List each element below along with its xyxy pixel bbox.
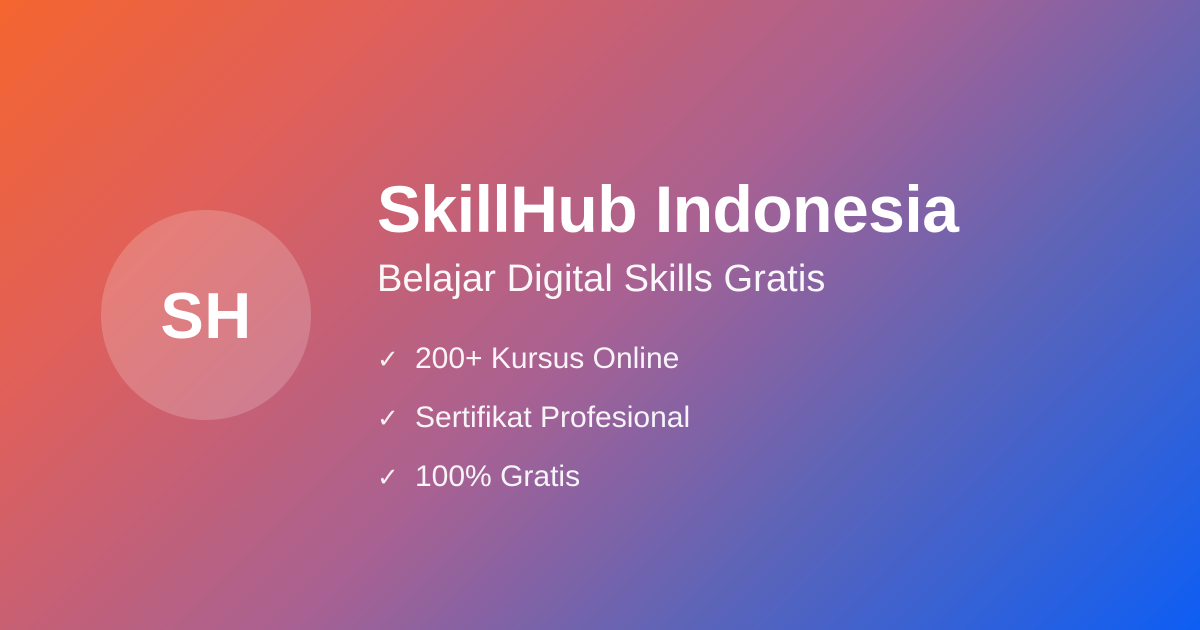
avatar: SH: [101, 210, 311, 420]
list-item: ✓ 100% Gratis: [377, 462, 1137, 521]
page-title: SkillHub Indonesia: [377, 176, 1137, 242]
brand-tagline: Belajar Digital Skills Gratis: [377, 260, 1137, 298]
check-icon: ✓: [377, 346, 397, 372]
feature-list: ✓ 200+ Kursus Online ✓ Sertifikat Profes…: [377, 344, 1137, 521]
avatar-initials: SH: [160, 283, 251, 348]
check-icon: ✓: [377, 464, 397, 490]
check-icon: ✓: [377, 405, 397, 431]
feature-label: Sertifikat Profesional: [415, 403, 690, 433]
list-item: ✓ 200+ Kursus Online: [377, 344, 1137, 403]
feature-label: 200+ Kursus Online: [415, 344, 679, 374]
og-preview-card: SH SkillHub Indonesia Belajar Digital Sk…: [0, 0, 1200, 630]
feature-label: 100% Gratis: [415, 462, 580, 492]
brand-content: SkillHub Indonesia Belajar Digital Skill…: [377, 176, 1137, 521]
list-item: ✓ Sertifikat Profesional: [377, 403, 1137, 462]
